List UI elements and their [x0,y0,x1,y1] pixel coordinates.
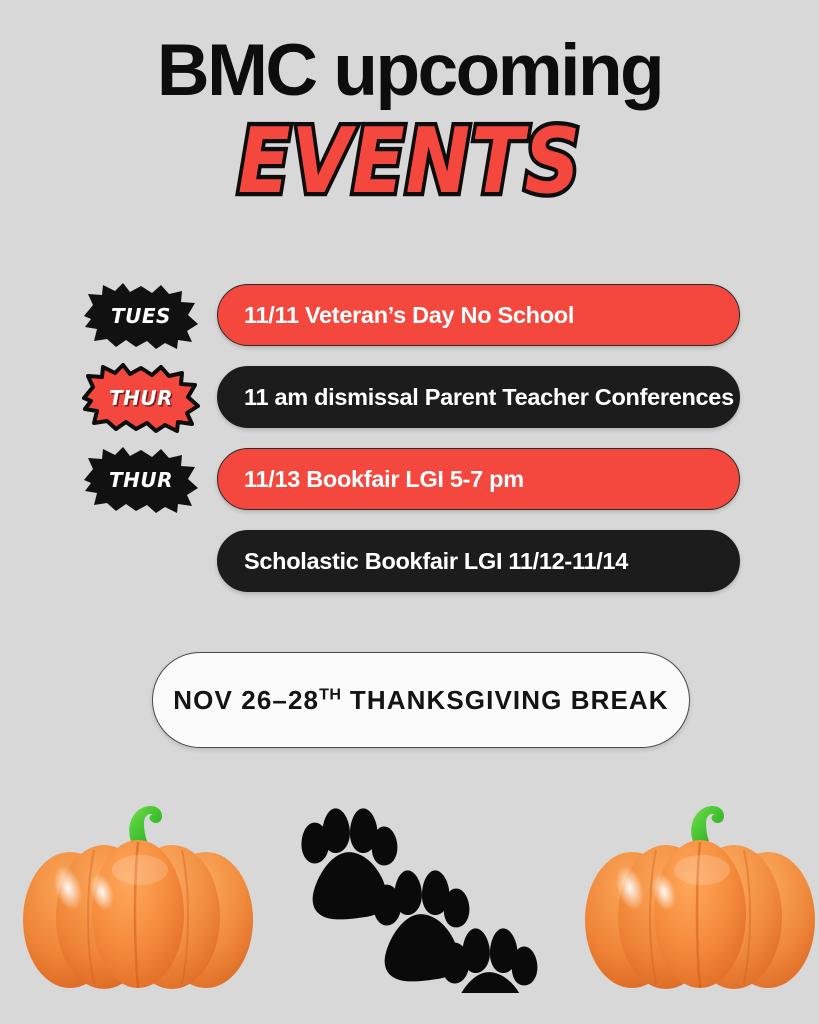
pumpkin-right [584,792,816,1002]
starburst-icon [82,446,200,514]
thanksgiving-banner-text: NOV 26–28TH THANKSGIVING BREAK [173,685,668,716]
event-pill[interactable]: 11/13 Bookfair LGI 5-7 pm [217,448,740,510]
page-subtitle-events: EVENTS [0,115,819,210]
event-row: TUES 11/11 Veteran’s Day No School [0,284,819,348]
banner-ordinal-suffix: TH [319,685,341,703]
event-pill[interactable]: 11 am dismissal Parent Teacher Conferenc… [217,366,740,428]
event-list: TUES 11/11 Veteran’s Day No School THUR … [0,284,819,612]
starburst-icon [82,364,200,432]
poster-canvas: BMC upcoming EVENTS TUES 11/11 Veteran’s… [0,0,819,1024]
event-pill[interactable]: Scholastic Bookfair LGI 11/12-11/14 [217,530,740,592]
page-title: BMC upcoming [0,34,819,107]
event-text: 11 am dismissal Parent Teacher Conferenc… [244,384,734,411]
paw-print-trail [283,793,545,993]
event-row: THUR 11 am dismissal Parent Teacher Conf… [0,366,819,430]
banner-date-range: NOV 26–28 [173,685,319,715]
day-badge-thur-2[interactable]: THUR [82,446,200,514]
event-text: 11/13 Bookfair LGI 5-7 pm [244,466,524,493]
banner-label: THANKSGIVING BREAK [342,685,669,715]
event-row: Scholastic Bookfair LGI 11/12-11/14 [0,530,819,594]
event-text: Scholastic Bookfair LGI 11/12-11/14 [244,548,628,575]
poster-header: BMC upcoming EVENTS [0,34,819,193]
pumpkin-icon [584,792,816,1002]
paw-print-icon [283,793,545,993]
pumpkin-left [22,792,254,1002]
event-pill[interactable]: 11/11 Veteran’s Day No School [217,284,740,346]
thanksgiving-banner[interactable]: NOV 26–28TH THANKSGIVING BREAK [152,652,690,748]
starburst-icon [82,282,200,350]
event-row: THUR 11/13 Bookfair LGI 5-7 pm [0,448,819,512]
day-badge-tues[interactable]: TUES [82,282,200,350]
pumpkin-icon [22,792,254,1002]
day-badge-thur-1[interactable]: THUR [82,364,200,432]
event-text: 11/11 Veteran’s Day No School [244,302,574,329]
